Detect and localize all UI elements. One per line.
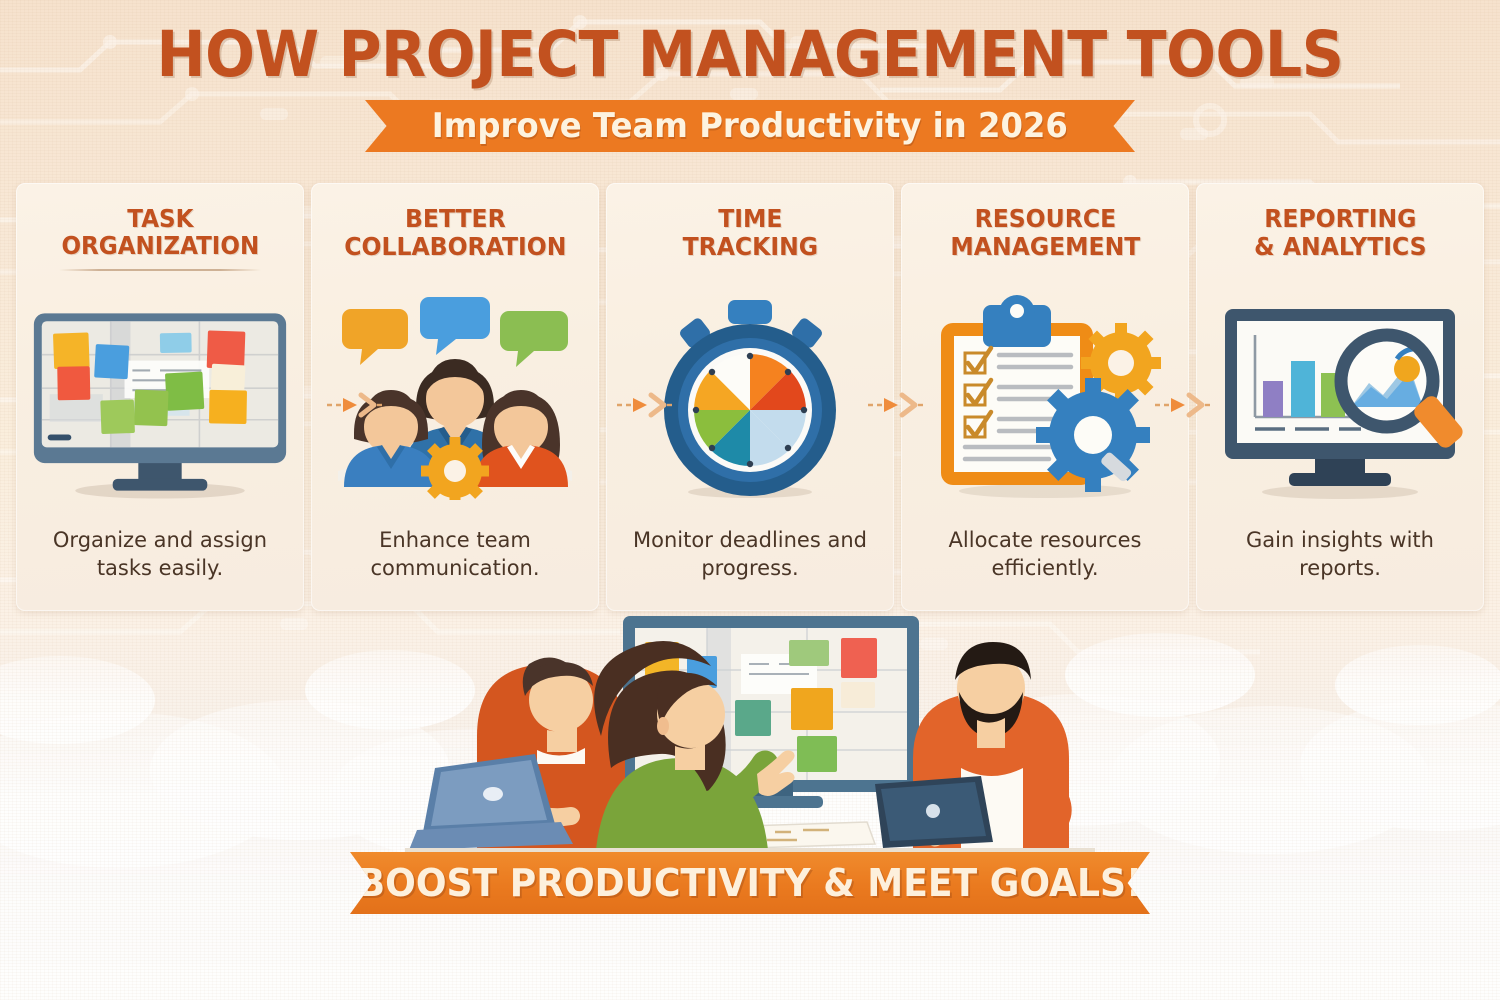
- infographic-canvas: HOW PROJECT MANAGEMENT TOOLS Improve Tea…: [0, 0, 1500, 1000]
- card-title: RESOURCE MANAGEMENT: [918, 205, 1172, 261]
- person-laptop: [409, 657, 625, 854]
- subtitle-year: in 2026: [933, 106, 1068, 146]
- gear-icon-blue: [1036, 378, 1150, 492]
- card-caption: Organize and assign tasks easily.: [16, 527, 304, 611]
- banner-text: BOOST PRODUCTIVITY & MEET GOALS!: [358, 861, 1143, 905]
- subtitle-ribbon-wrap: Improve Team Productivity in 2026: [0, 100, 1500, 156]
- card-caption: Gain insights with reports.: [1196, 527, 1484, 611]
- card-time-tracking[interactable]: TIME TRACKING: [606, 183, 894, 611]
- banner-tail-right: [1144, 879, 1204, 887]
- card-resource-management[interactable]: RESOURCE MANAGEMENT: [901, 183, 1189, 611]
- clipboard-gears-icon: [901, 261, 1189, 527]
- card-caption: Allocate resources efficiently.: [901, 527, 1189, 611]
- kanban-monitor-icon: [16, 271, 304, 527]
- speech-bubble-orange: [342, 309, 408, 365]
- card-reporting-analytics[interactable]: REPORTING & ANALYTICS: [1196, 183, 1484, 611]
- card-title: TIME TRACKING: [623, 205, 877, 261]
- card-caption: Enhance team communication.: [311, 527, 599, 611]
- speech-bubble-green: [500, 311, 568, 367]
- team-speech-bubbles-icon: [311, 261, 599, 527]
- card-title: REPORTING & ANALYTICS: [1213, 205, 1467, 261]
- subtitle-text: Improve Team Productivity in 2026: [432, 106, 1068, 146]
- card-better-collaboration[interactable]: BETTER COLLABORATION: [311, 183, 599, 611]
- subtitle-ribbon: Improve Team Productivity in 2026: [365, 100, 1135, 152]
- card-task-organization[interactable]: TASK ORGANIZATION: [16, 183, 304, 611]
- team-collaboration-illustration: [405, 608, 1095, 863]
- chart-monitor-magnifier-icon: [1196, 261, 1484, 527]
- page-title: HOW PROJECT MANAGEMENT TOOLS: [53, 18, 1448, 91]
- ribbon-tail-right: [1131, 122, 1177, 129]
- card-title: TASK ORGANIZATION: [33, 205, 287, 260]
- feature-card-row: TASK ORGANIZATION: [16, 183, 1484, 611]
- bottom-banner: BOOST PRODUCTIVITY & MEET GOALS!: [350, 852, 1150, 914]
- ribbon-tail-left: [323, 122, 369, 129]
- speech-bubble-blue: [420, 297, 490, 355]
- stopwatch-pie-icon: [606, 261, 894, 527]
- subtitle-main: Improve Team Productivity: [432, 106, 922, 146]
- bottom-banner-wrap: BOOST PRODUCTIVITY & MEET GOALS!: [0, 852, 1500, 922]
- card-title: BETTER COLLABORATION: [328, 205, 582, 261]
- banner-tail-left: [296, 879, 356, 887]
- card-caption: Monitor deadlines and progress.: [606, 527, 894, 611]
